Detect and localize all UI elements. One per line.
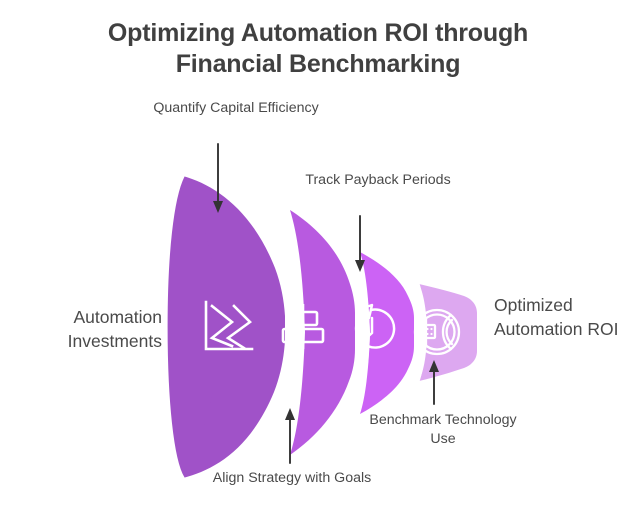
funnel-segment-4[interactable] — [419, 284, 477, 381]
funnel-diagram — [0, 0, 636, 514]
funnel-segment-4-shape — [419, 284, 477, 381]
callout-arrow-1 — [213, 144, 223, 213]
